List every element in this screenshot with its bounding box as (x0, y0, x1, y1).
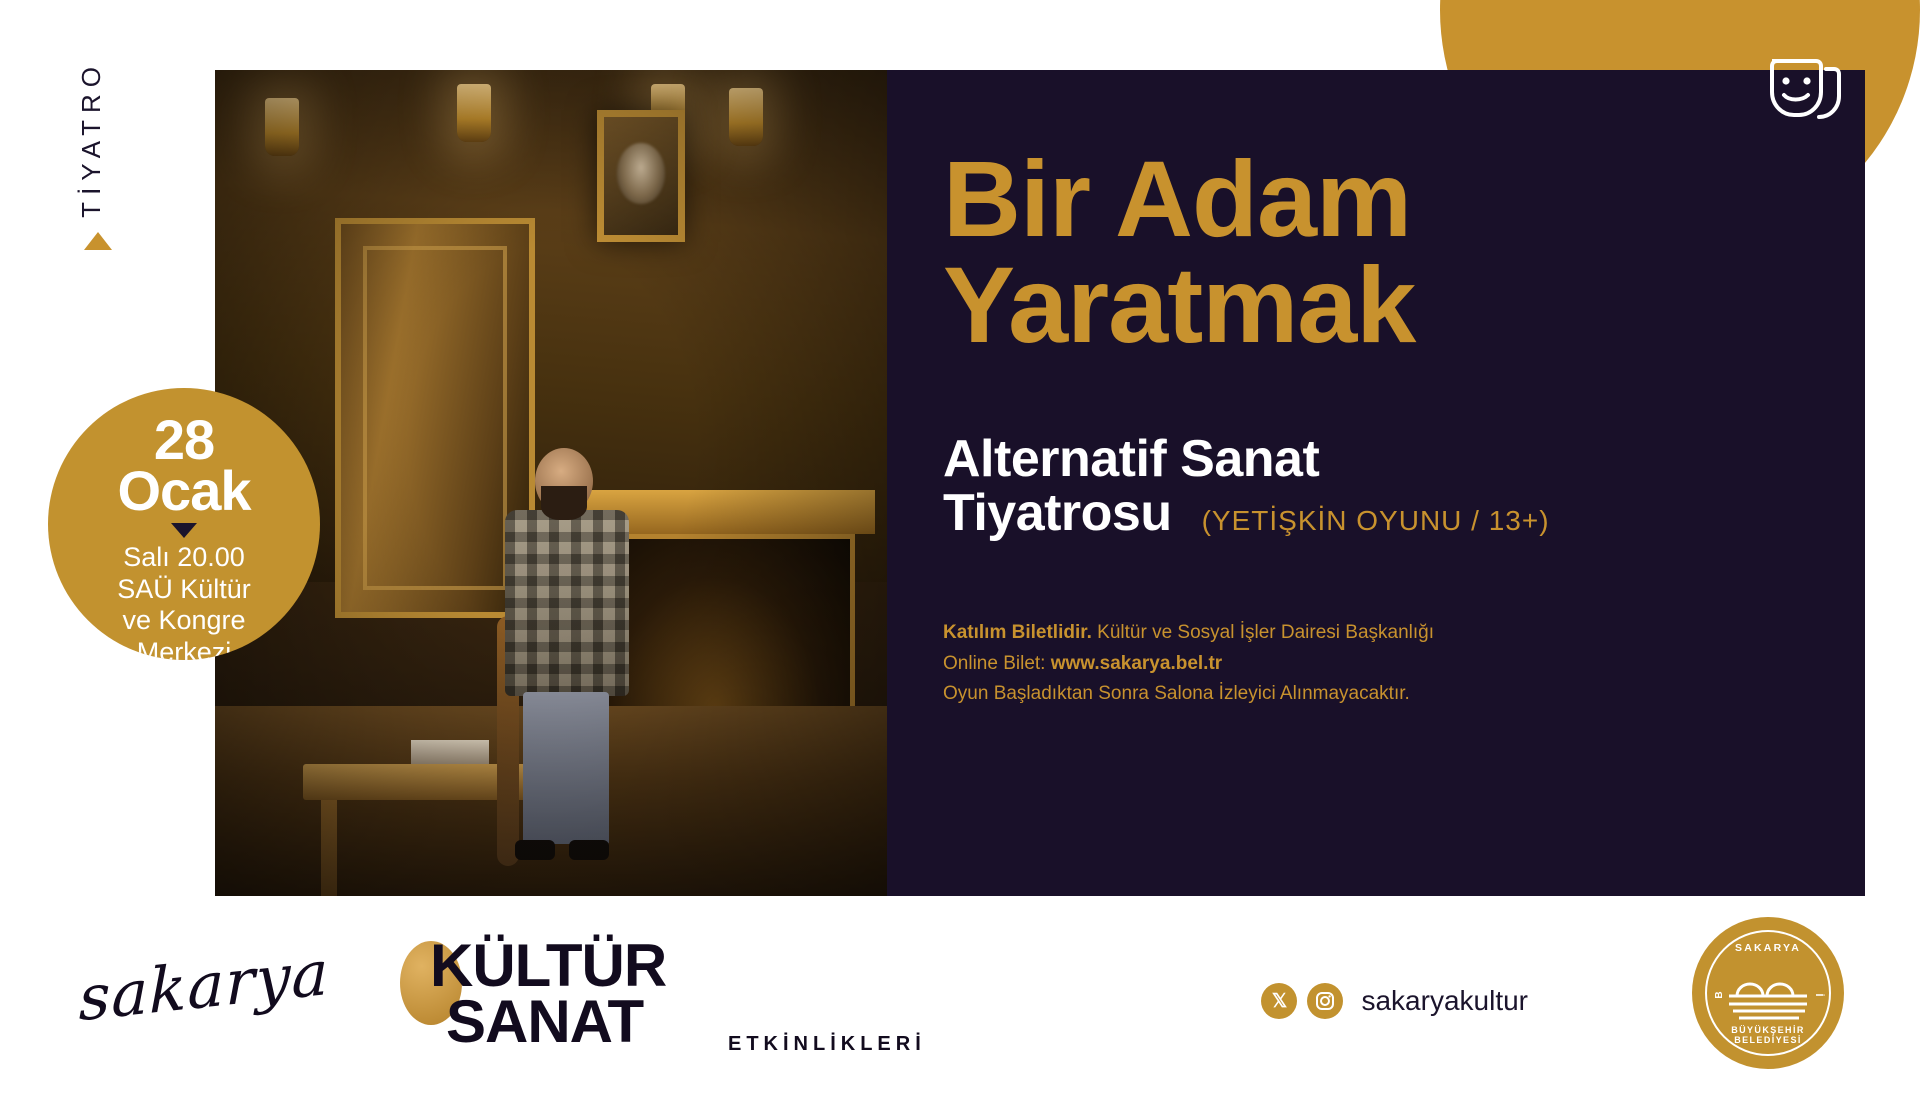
x-twitter-icon[interactable]: 𝕏 (1261, 983, 1297, 1019)
company-subtitle: Alternatif Sanat Tiyatrosu (YETİŞKİN OYU… (943, 432, 1805, 540)
subtitle-line-2: Tiyatrosu (943, 484, 1172, 542)
info-line-3: Oyun Başladıktan Sonra Salona İzleyici A… (943, 679, 1805, 710)
bridge-field-icon (1723, 970, 1813, 1026)
municipality-right-letter: İ (1813, 994, 1824, 997)
poster-root: TİYATRO (0, 0, 1920, 1097)
venue-line-2: SAÜ Kültür (48, 574, 320, 606)
page-title: Bir Adam Yaratmak (943, 146, 1805, 358)
sakarya-kultur-sanat-logo: sakarya KÜLTÜR SANAT ETKİNLİKLERİ (78, 935, 738, 1065)
triangle-down-icon (171, 523, 197, 538)
stage-photo (215, 70, 887, 896)
logo-word-etkinlikleri: ETKİNLİKLERİ (728, 1033, 926, 1056)
category-label: TİYATRO (78, 60, 118, 250)
theatre-masks-icon (1762, 55, 1846, 135)
info-block: Katılım Biletlidir. Kültür ve Sosyal İşl… (943, 618, 1805, 710)
date-month: Ocak (48, 464, 320, 517)
municipality-top-text: SAKARYA (1707, 942, 1829, 954)
title-line-2: Yaratmak (943, 252, 1805, 358)
footer: sakarya KÜLTÜR SANAT ETKİNLİKLERİ 𝕏 saka… (0, 897, 1920, 1097)
venue-line-1: Salı 20.00 (48, 542, 320, 574)
triangle-down-icon (84, 232, 112, 250)
hero-text-side: Bir Adam Yaratmak Alternatif Sanat Tiyat… (887, 70, 1865, 896)
online-ticket-label: Online Bilet: (943, 653, 1051, 674)
info-line-2: Online Bilet: www.sakarya.bel.tr (943, 649, 1805, 680)
instagram-icon[interactable] (1307, 983, 1343, 1019)
hero-panel: Bir Adam Yaratmak Alternatif Sanat Tiyat… (215, 70, 1865, 896)
category-label-text: TİYATRO (78, 60, 104, 218)
info-line-1: Katılım Biletlidir. Kültür ve Sosyal İşl… (943, 618, 1805, 649)
age-rating-note: (YETİŞKİN OYUNU / 13+) (1202, 505, 1550, 536)
subtitle-line-1: Alternatif Sanat (943, 432, 1805, 486)
date-badge: 28 Ocak Salı 20.00 SAÜ Kültür ve Kongre … (48, 388, 320, 660)
info-line-1-rest: Kültür ve Sosyal İşler Dairesi Başkanlığ… (1092, 622, 1434, 643)
online-ticket-url[interactable]: www.sakarya.bel.tr (1051, 653, 1222, 674)
info-line-1-bold: Katılım Biletlidir. (943, 622, 1092, 643)
municipality-logo: SAKARYA B İ BÜYÜKŞEHİR BELEDİYESİ (1692, 917, 1844, 1069)
social-links[interactable]: 𝕏 sakaryakultur (1261, 983, 1528, 1019)
logo-word-sanat: SANAT (446, 993, 643, 1051)
title-line-1: Bir Adam (943, 138, 1411, 259)
logo-word-kultur: KÜLTÜR (430, 937, 666, 995)
municipality-left-letter: B (1714, 992, 1725, 999)
municipality-bottom-text: BÜYÜKŞEHİR BELEDİYESİ (1707, 1025, 1829, 1045)
social-handle[interactable]: sakaryakultur (1361, 985, 1528, 1017)
logo-script-text: sakarya (79, 936, 330, 1036)
